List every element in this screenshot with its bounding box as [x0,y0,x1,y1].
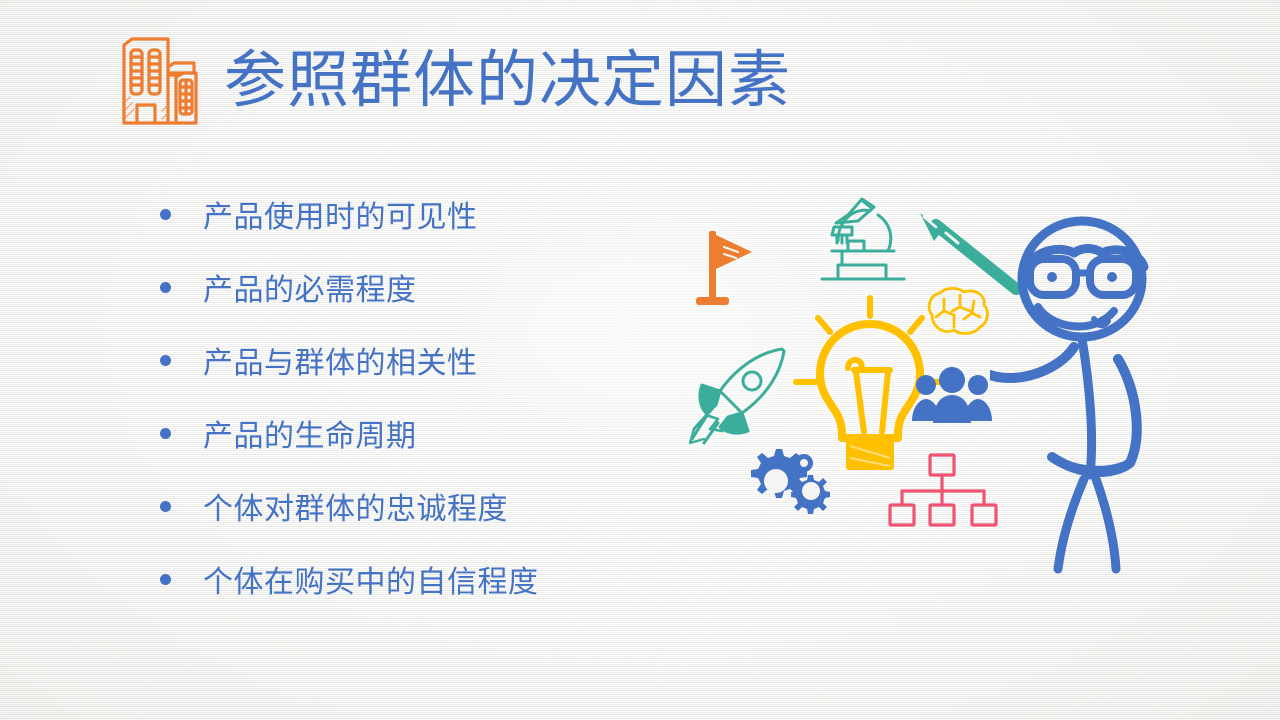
list-item[interactable]: 产品的必需程度 [160,251,680,323]
bullet-dot-icon [160,501,171,512]
slide-title-row: 参照群体的决定因素 [118,28,791,134]
slide-canvas: 参照群体的决定因素 产品使用时的可见性 产品的必需程度 产品与群体的相关性 产品… [0,0,1280,720]
illustration-group [660,185,1190,605]
bullet-dot-icon [160,428,171,439]
microscope-icon [808,193,918,285]
list-item-label: 个体在购买中的自信程度 [203,557,539,601]
list-item-label: 产品的必需程度 [203,265,417,309]
list-item-label: 产品的生命周期 [203,411,417,455]
bullet-dot-icon [160,355,171,366]
stick-figure-person [990,207,1190,577]
gears-icon [742,447,838,519]
org-chart-icon [888,453,998,531]
bullet-dot-icon [160,574,171,585]
list-item[interactable]: 个体对群体的忠诚程度 [160,470,680,542]
rocket-icon [686,343,798,453]
bullet-dot-icon [160,282,171,293]
flag-icon [684,227,754,313]
list-item[interactable]: 产品使用时的可见性 [160,178,680,250]
list-item-label: 个体对群体的忠诚程度 [203,484,508,528]
list-item-label: 产品使用时的可见性 [203,192,478,236]
page-title: 参照群体的决定因素 [224,50,791,112]
bullet-list: 产品使用时的可见性 产品的必需程度 产品与群体的相关性 产品的生命周期 个体对群… [160,178,680,616]
list-item[interactable]: 个体在购买中的自信程度 [160,543,680,615]
building-icon [118,33,202,129]
list-item-label: 产品与群体的相关性 [203,338,478,382]
list-item[interactable]: 产品与群体的相关性 [160,324,680,396]
people-group-icon [908,365,996,425]
bullet-dot-icon [160,209,171,220]
list-item[interactable]: 产品的生命周期 [160,397,680,469]
